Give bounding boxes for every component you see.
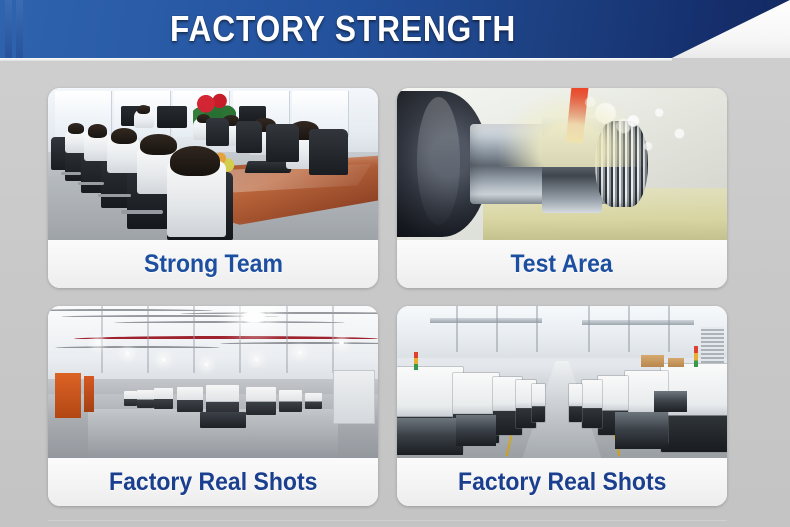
card-strong-team[interactable]: Strong Team	[48, 88, 378, 288]
page-title: FACTORY STRENGTH	[47, 0, 742, 58]
banner-underline	[0, 58, 672, 61]
card-caption-bar: Strong Team	[48, 240, 378, 288]
photo-meeting-room	[48, 88, 378, 240]
card-caption-label: Test Area	[511, 250, 613, 279]
card-grid: Strong Team Test Area	[48, 88, 727, 506]
footer-divider	[48, 519, 727, 521]
card-factory-real-shots-rows[interactable]: Factory Real Shots	[397, 306, 727, 506]
photo-factory-hall	[48, 306, 378, 458]
factory-strength-page: FACTORY STRENGTH	[0, 0, 790, 527]
card-caption-bar: Factory Real Shots	[397, 458, 727, 506]
card-test-area[interactable]: Test Area	[397, 88, 727, 288]
photo-cnc-rows	[397, 306, 727, 458]
header-banner: FACTORY STRENGTH	[0, 0, 790, 62]
card-caption-bar: Factory Real Shots	[48, 458, 378, 506]
card-caption-label: Strong Team	[144, 250, 283, 279]
card-caption-bar: Test Area	[397, 240, 727, 288]
card-caption-label: Factory Real Shots	[109, 468, 317, 497]
card-factory-real-shots-hall[interactable]: Factory Real Shots	[48, 306, 378, 506]
banner-accent-stripe-1	[5, 0, 12, 58]
banner-accent-stripe-2	[16, 0, 23, 58]
card-caption-label: Factory Real Shots	[458, 468, 666, 497]
photo-cnc-turning	[397, 88, 727, 240]
